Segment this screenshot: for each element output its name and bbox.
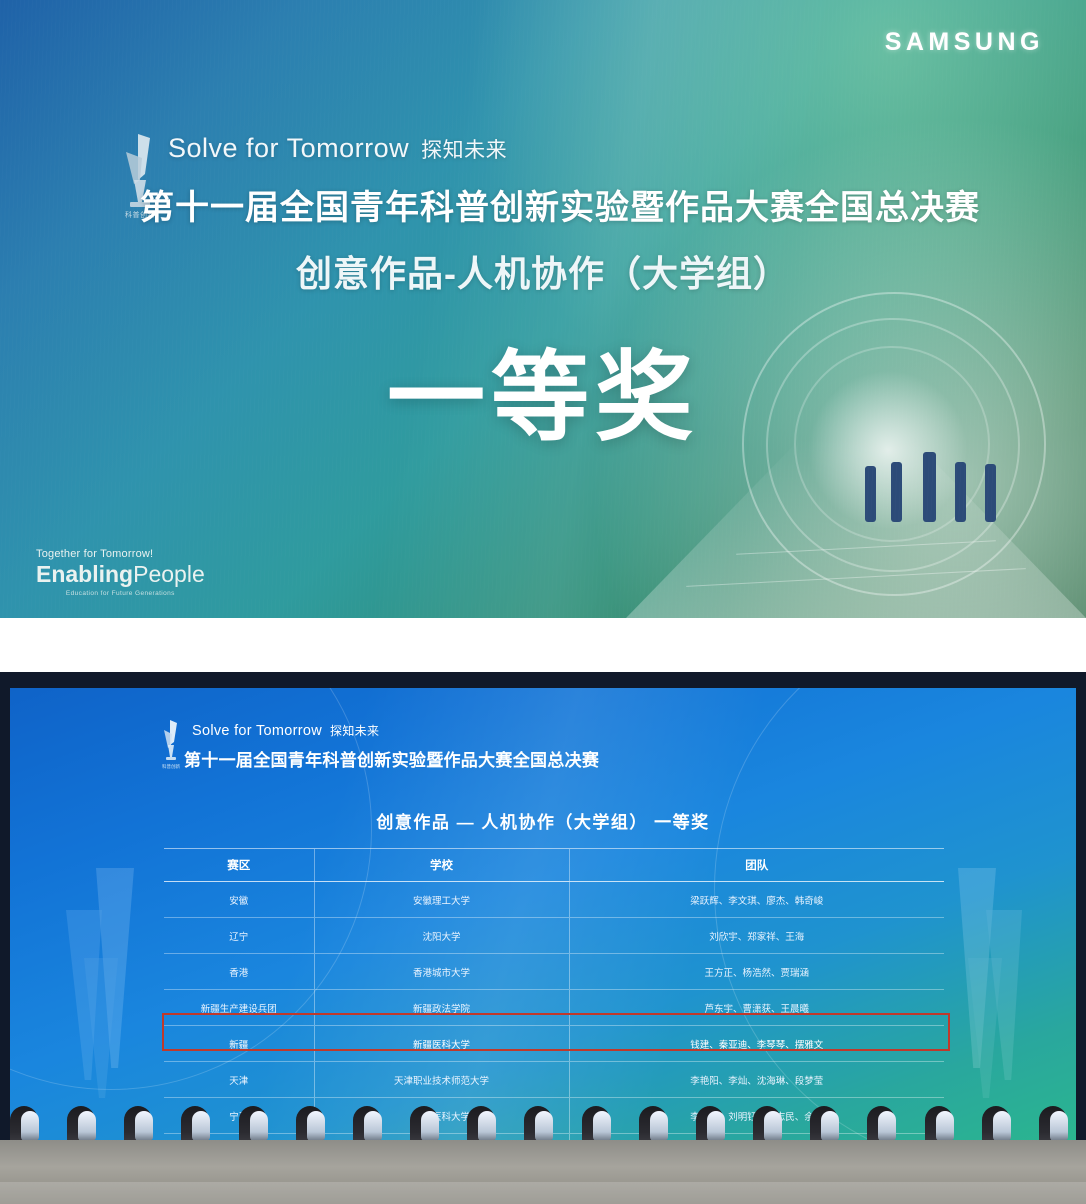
light-lens bbox=[78, 1111, 96, 1141]
program-title-cn: 探知未来 bbox=[421, 139, 507, 162]
trophy-logo-bottom: 科普创新 bbox=[158, 718, 184, 762]
trophy-icon bbox=[158, 718, 184, 762]
light-lens bbox=[764, 1111, 782, 1141]
tagline-line1: Together for Tomorrow! bbox=[36, 548, 205, 560]
enabling-people-tagline: Together for Tomorrow! EnablingPeople Ed… bbox=[36, 548, 205, 598]
table-row: 辽宁沈阳大学刘欣宇、郑家祥、王海 bbox=[164, 918, 944, 954]
light-lens bbox=[364, 1111, 382, 1141]
column-header-school: 学校 bbox=[314, 849, 569, 882]
cell-team: 芦东宇、曹潇获、王晨曦 bbox=[569, 990, 944, 1026]
stage-floor bbox=[0, 1140, 1086, 1204]
table-row: 香港香港城市大学王方正、杨浩然、贾瑞涵 bbox=[164, 954, 944, 990]
cell-team: 刘欣宇、郑家祥、王海 bbox=[569, 918, 944, 954]
light-lens bbox=[993, 1111, 1011, 1141]
light-lens bbox=[135, 1111, 153, 1141]
table-row: 新疆生产建设兵团新疆政法学院芦东宇、曹潇获、王晨曦 bbox=[164, 990, 944, 1026]
award-slide-photo: SAMSUNG 科普创新 Solve for Tomorrow探知未来 第十一届… bbox=[0, 0, 1086, 618]
tagline-line2: EnablingPeople bbox=[36, 562, 205, 587]
cell-school: 沈阳大学 bbox=[314, 918, 569, 954]
program-title-cn: 探知未来 bbox=[330, 724, 379, 738]
decor-triangles-right bbox=[936, 868, 1026, 1098]
cell-region: 辽宁 bbox=[164, 918, 314, 954]
table-header-row: 赛区 学校 团队 bbox=[164, 849, 944, 882]
cell-region: 安徽 bbox=[164, 882, 314, 918]
samsung-logo: SAMSUNG bbox=[885, 28, 1044, 57]
column-header-region: 赛区 bbox=[164, 849, 314, 882]
cell-school: 新疆政法学院 bbox=[314, 990, 569, 1026]
light-lens bbox=[307, 1111, 325, 1141]
light-lens bbox=[192, 1111, 210, 1141]
award-level-text: 一等奖 bbox=[0, 318, 1086, 460]
cell-school: 香港城市大学 bbox=[314, 954, 569, 990]
tagline-people: People bbox=[133, 561, 205, 587]
table-row: 安徽安徽理工大学梁跃辉、李文琪、廖杰、韩奇峻 bbox=[164, 882, 944, 918]
program-title-top: Solve for Tomorrow探知未来 bbox=[168, 133, 507, 164]
program-title-en: Solve for Tomorrow bbox=[192, 723, 322, 739]
light-lens bbox=[878, 1111, 896, 1141]
light-lens bbox=[936, 1111, 954, 1141]
cell-school: 天津职业技术师范大学 bbox=[314, 1062, 569, 1098]
category-award-line: 创意作品 — 人机协作（大学组） 一等奖 bbox=[10, 808, 1076, 833]
decor-triangles-left bbox=[60, 868, 150, 1098]
light-lens bbox=[650, 1111, 668, 1141]
winners-table: 赛区 学校 团队 安徽安徽理工大学梁跃辉、李文琪、廖杰、韩奇峻 辽宁沈阳大学刘欣… bbox=[164, 848, 944, 1140]
cell-team: 李艳阳、李灿、沈海琳、段梦莹 bbox=[569, 1062, 944, 1098]
cell-school: 新疆医科大学 bbox=[314, 1026, 569, 1062]
cell-region: 香港 bbox=[164, 954, 314, 990]
screenshot-root: SAMSUNG 科普创新 Solve for Tomorrow探知未来 第十一届… bbox=[0, 0, 1086, 1204]
event-title-bottom: 第十一届全国青年科普创新实验暨作品大赛全国总决赛 bbox=[184, 746, 599, 771]
category-title-top: 创意作品-人机协作（大学组） bbox=[0, 245, 1086, 297]
cell-region: 新疆生产建设兵团 bbox=[164, 990, 314, 1026]
light-lens bbox=[535, 1111, 553, 1141]
tagline-line3: Education for Future Generations bbox=[36, 590, 205, 597]
table-body: 安徽安徽理工大学梁跃辉、李文琪、廖杰、韩奇峻 辽宁沈阳大学刘欣宇、郑家祥、王海 … bbox=[164, 882, 944, 1141]
event-title-top: 第十一届全国青年科普创新实验暨作品大赛全国总决赛 bbox=[140, 180, 980, 229]
cell-school: 安徽理工大学 bbox=[314, 882, 569, 918]
light-lens bbox=[707, 1111, 725, 1141]
light-lens bbox=[1050, 1111, 1068, 1141]
cell-team: 梁跃辉、李文琪、廖杰、韩奇峻 bbox=[569, 882, 944, 918]
cell-region: 天津 bbox=[164, 1062, 314, 1098]
floor-reflection bbox=[0, 1182, 1086, 1204]
photo-grain bbox=[0, 0, 1086, 618]
table-row: 天津天津职业技术师范大学李艳阳、李灿、沈海琳、段梦莹 bbox=[164, 1062, 944, 1098]
light-lens bbox=[421, 1111, 439, 1141]
cell-team: 王方正、杨浩然、贾瑞涵 bbox=[569, 954, 944, 990]
column-header-team: 团队 bbox=[569, 849, 944, 882]
light-lens bbox=[821, 1111, 839, 1141]
table-row-highlighted: 新疆新疆医科大学钱建、秦亚迪、李琴琴、摆雅文 bbox=[164, 1026, 944, 1062]
stage-screen-photo: 科普创新 Solve for Tomorrow探知未来 第十一届全国青年科普创新… bbox=[0, 672, 1086, 1204]
light-lens bbox=[593, 1111, 611, 1141]
program-title-en: Solve for Tomorrow bbox=[168, 133, 409, 163]
light-lens bbox=[21, 1111, 39, 1141]
led-screen: 科普创新 Solve for Tomorrow探知未来 第十一届全国青年科普创新… bbox=[10, 688, 1076, 1140]
photo-separator bbox=[0, 618, 1086, 672]
program-title-bottom: Solve for Tomorrow探知未来 bbox=[192, 722, 379, 739]
cell-region: 新疆 bbox=[164, 1026, 314, 1062]
light-lens bbox=[250, 1111, 268, 1141]
light-lens bbox=[478, 1111, 496, 1141]
tagline-enabling: Enabling bbox=[36, 561, 133, 587]
cell-team: 钱建、秦亚迪、李琴琴、摆雅文 bbox=[569, 1026, 944, 1062]
trophy-caption: 科普创新 bbox=[158, 764, 184, 770]
